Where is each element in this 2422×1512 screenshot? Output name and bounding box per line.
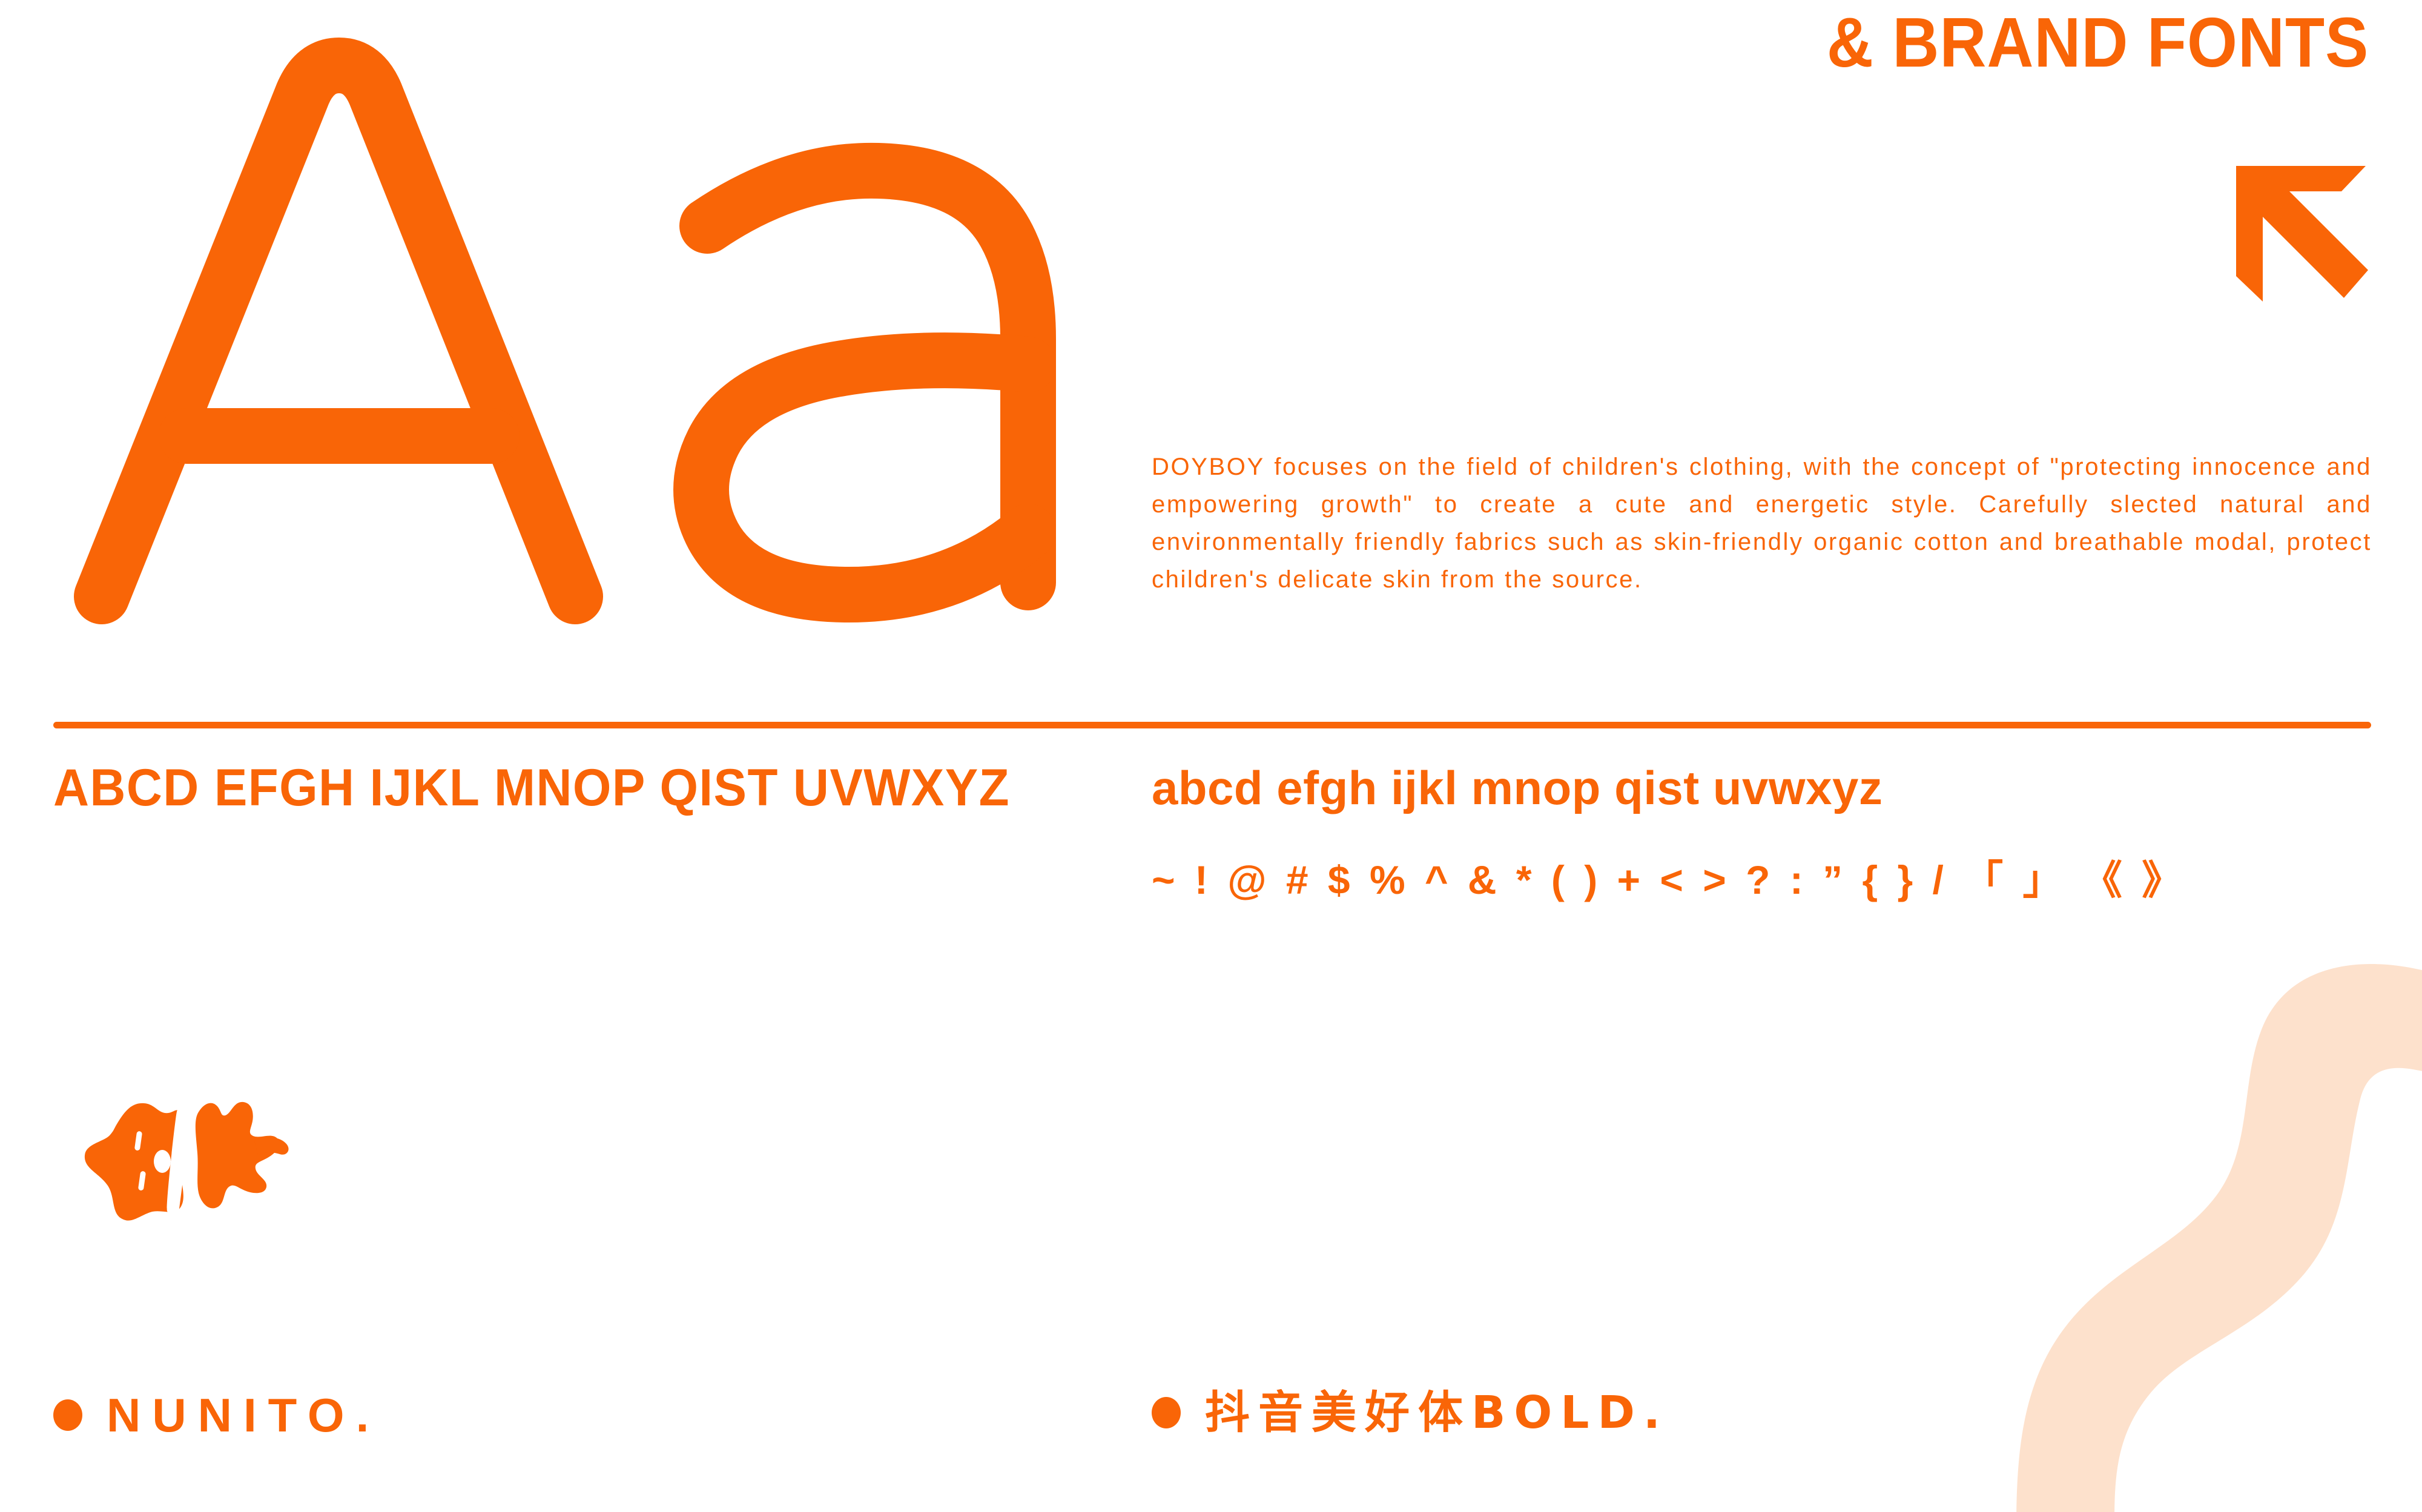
brand-font-specimen-page: & BRAND FONTS DOYBOY focuses on the fiel… <box>0 0 2422 1512</box>
specimen-symbols-row: ~ ! @ # $ % ^ & * ( ) + < > ? : ” { } / … <box>1152 860 2186 900</box>
font-name-cjk: 抖音美好体BOLD. <box>1152 1390 1669 1435</box>
font-name-latin: NUNITO. <box>53 1392 380 1439</box>
arrow-up-left-icon <box>2231 163 2371 304</box>
font-name-cjk-label: 抖音美好体BOLD. <box>1205 1390 1669 1435</box>
mascot-bear-logo-icon <box>73 1078 291 1235</box>
font-name-latin-label: NUNITO. <box>107 1392 380 1439</box>
bullet-dot-icon <box>1152 1397 1181 1428</box>
specimen-lowercase-row: abcd efgh ijkl mnop qist uvwxyz <box>1152 764 1882 811</box>
brand-description-paragraph: DOYBOY focuses on the field of children'… <box>1152 448 2372 598</box>
hero-specimen-Aa <box>30 0 1072 702</box>
page-title: & BRAND FONTS <box>1827 7 2369 78</box>
horizontal-divider <box>53 722 2371 728</box>
bullet-dot-icon <box>53 1399 82 1431</box>
specimen-uppercase-row: ABCD EFGH IJKL MNOP QIST UVWXYZ <box>53 762 1010 814</box>
